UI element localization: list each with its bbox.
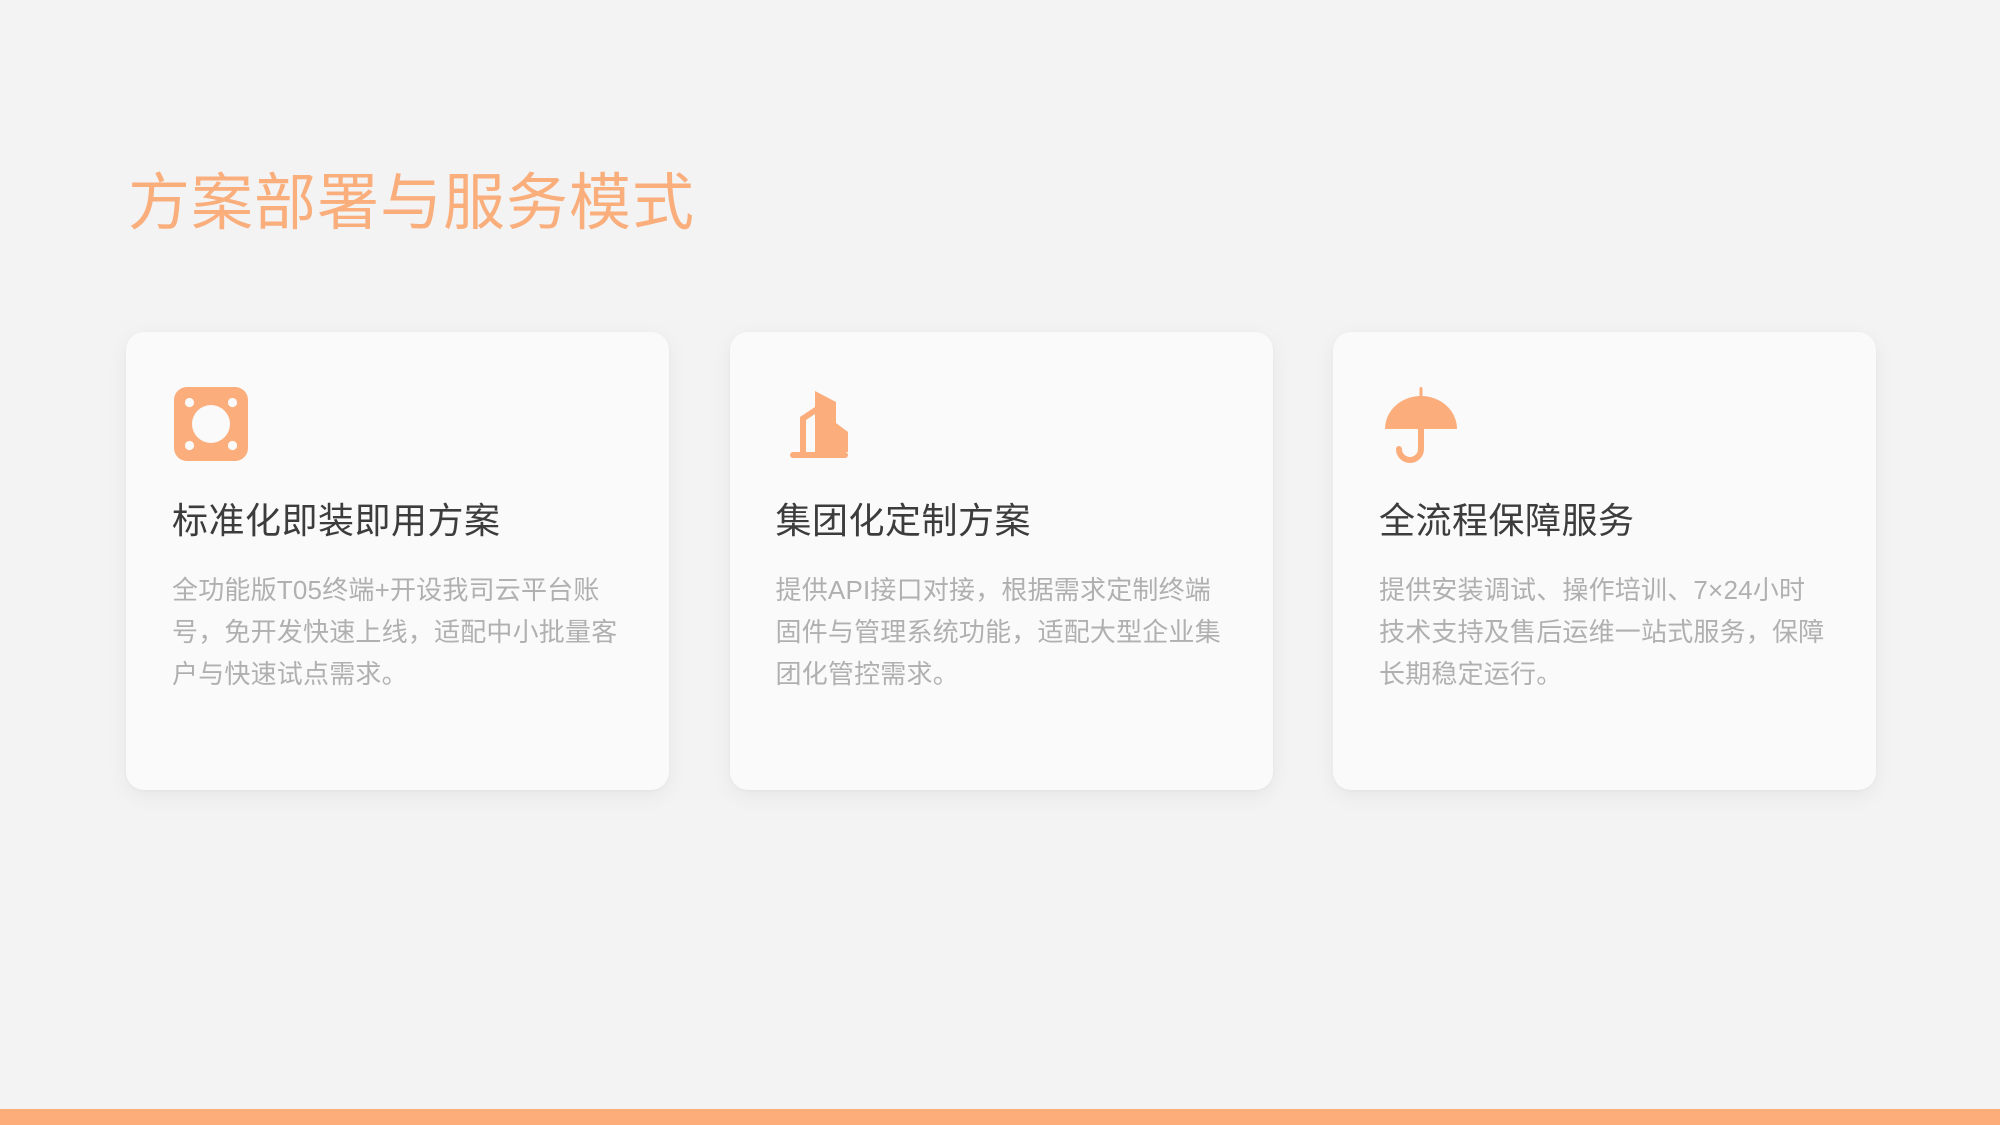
card-standard-solution[interactable]: 标准化即装即用方案 全功能版T05终端+开设我司云平台账号，免开发快速上线，适配… (126, 332, 669, 790)
card-full-process-support[interactable]: 全流程保障服务 提供安装调试、操作培训、7×24小时技术支持及售后运维一站式服务… (1333, 332, 1876, 790)
card-title: 全流程保障服务 (1379, 498, 1830, 543)
card-body: 提供API接口对接，根据需求定制终端固件与管理系统功能，适配大型企业集团化管控需… (776, 569, 1227, 695)
umbrella-icon (1379, 380, 1830, 468)
card-body: 全功能版T05终端+开设我司云平台账号，免开发快速上线，适配中小批量客户与快速试… (172, 569, 623, 695)
module-device-icon (172, 380, 623, 468)
cards-row: 标准化即装即用方案 全功能版T05终端+开设我司云平台账号，免开发快速上线，适配… (126, 332, 1876, 790)
bottom-accent-bar (0, 1109, 2000, 1125)
page-title: 方案部署与服务模式 (128, 168, 695, 239)
building-icon (776, 380, 1227, 468)
card-enterprise-custom-solution[interactable]: 集团化定制方案 提供API接口对接，根据需求定制终端固件与管理系统功能，适配大型… (730, 332, 1273, 790)
card-title: 标准化即装即用方案 (172, 498, 623, 543)
slide-root: 方案部署与服务模式 标准化即装即用方案 全功能版T05终端+开设我司云平台账号，… (0, 0, 2000, 1125)
card-body: 提供安装调试、操作培训、7×24小时技术支持及售后运维一站式服务，保障长期稳定运… (1379, 569, 1830, 695)
card-title: 集团化定制方案 (776, 498, 1227, 543)
